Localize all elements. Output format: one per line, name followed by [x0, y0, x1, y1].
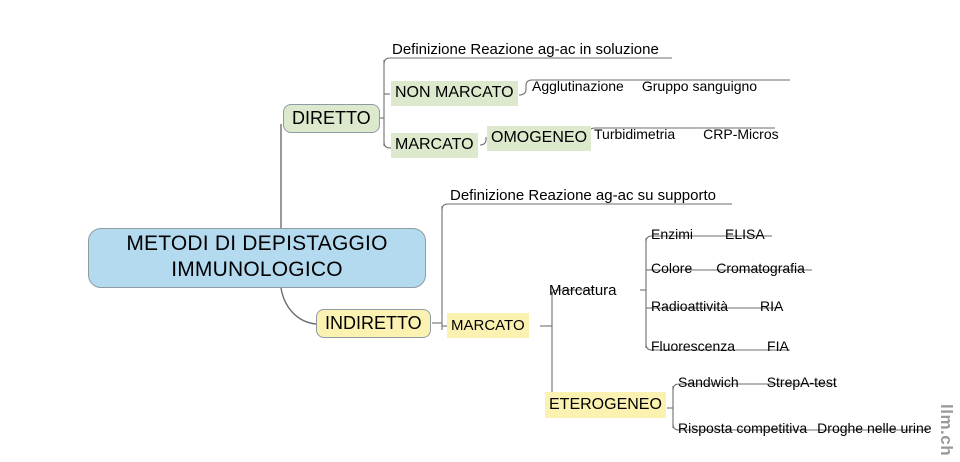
- leafrow-agglutinazione[interactable]: Agglutinazione Gruppo sanguigno: [532, 78, 757, 94]
- root-label-line2: IMMUNOLOGICO: [171, 258, 343, 281]
- node-marcatura-label: Marcatura: [549, 283, 617, 298]
- leaf-example-cromatografia: Cromatografia: [716, 260, 805, 276]
- leaf-method-radioattivita: Radioattività: [651, 298, 728, 314]
- leaf-method-agglutinazione: Agglutinazione: [532, 78, 624, 94]
- node-marcato-diretto[interactable]: MARCATO: [391, 133, 478, 158]
- node-non-marcato[interactable]: NON MARCATO: [391, 81, 518, 106]
- node-non-marcato-label: NON MARCATO: [395, 85, 514, 101]
- node-omogeneo[interactable]: OMOGENEO: [487, 126, 591, 151]
- node-marcato-indiretto[interactable]: MARCATO: [447, 313, 529, 338]
- node-eterogeneo[interactable]: ETEROGENEO: [545, 392, 666, 418]
- node-diretto-label: DIRETTO: [292, 109, 371, 127]
- leafrow-sandwich[interactable]: Sandwich StrepA-test: [678, 374, 837, 390]
- leaf-method-sandwich: Sandwich: [678, 374, 739, 390]
- leaf-example-ria: RIA: [760, 298, 783, 314]
- node-diretto[interactable]: DIRETTO: [283, 104, 380, 133]
- leaf-example-gruppo-sanguigno: Gruppo sanguigno: [642, 78, 757, 94]
- node-eterogeneo-label: ETEROGENEO: [549, 397, 662, 413]
- node-indiretto-definizione-label: Definizione Reazione ag-ac su supporto: [450, 188, 716, 203]
- leafrow-enzimi[interactable]: Enzimi ELISA: [651, 226, 765, 242]
- leafrow-radioattivita[interactable]: Radioattività RIA: [651, 298, 783, 314]
- leafrow-turbidimetria[interactable]: Turbidimetria CRP-Micros: [594, 126, 779, 142]
- node-indiretto-label: INDIRETTO: [325, 314, 422, 332]
- leafrow-colore[interactable]: Colore Cromatografia: [651, 260, 805, 276]
- leaf-example-crp-micros: CRP-Micros: [703, 126, 778, 142]
- node-indiretto[interactable]: INDIRETTO: [316, 309, 431, 338]
- leaf-example-elisa: ELISA: [725, 226, 765, 242]
- leaf-example-strepa-test: StrepA-test: [767, 374, 837, 390]
- node-marcatura[interactable]: Marcatura: [549, 281, 617, 300]
- leafrow-fluorescenza[interactable]: Fluorescenza FIA: [651, 338, 789, 354]
- leaf-method-fluorescenza: Fluorescenza: [651, 338, 735, 354]
- node-diretto-definizione-label: Definizione Reazione ag-ac in soluzione: [392, 42, 659, 57]
- node-indiretto-definizione[interactable]: Definizione Reazione ag-ac su supporto: [450, 186, 716, 204]
- node-diretto-definizione[interactable]: Definizione Reazione ag-ac in soluzione: [392, 40, 659, 58]
- node-marcato-diretto-label: MARCATO: [395, 137, 474, 153]
- mindmap-canvas: METODI DI DEPISTAGGIO IMMUNOLOGICO DIRET…: [0, 0, 960, 462]
- leaf-example-droghe-nelle-urine: Droghe nelle urine: [817, 420, 931, 436]
- watermark: llm.ch: [936, 404, 956, 456]
- root-label-line1: METODI DI DEPISTAGGIO: [126, 232, 387, 255]
- node-marcato-indiretto-label: MARCATO: [451, 318, 525, 333]
- node-omogeneo-label: OMOGENEO: [491, 130, 587, 146]
- leaf-method-enzimi: Enzimi: [651, 226, 693, 242]
- leaf-method-turbidimetria: Turbidimetria: [594, 126, 675, 142]
- leaf-method-risposta-competitiva: Risposta competitiva: [678, 420, 807, 436]
- root-node[interactable]: METODI DI DEPISTAGGIO IMMUNOLOGICO: [88, 228, 426, 288]
- leafrow-risposta-competitiva[interactable]: Risposta competitiva Droghe nelle urine: [678, 420, 932, 436]
- leaf-example-fia: FIA: [767, 338, 789, 354]
- leaf-method-colore: Colore: [651, 260, 692, 276]
